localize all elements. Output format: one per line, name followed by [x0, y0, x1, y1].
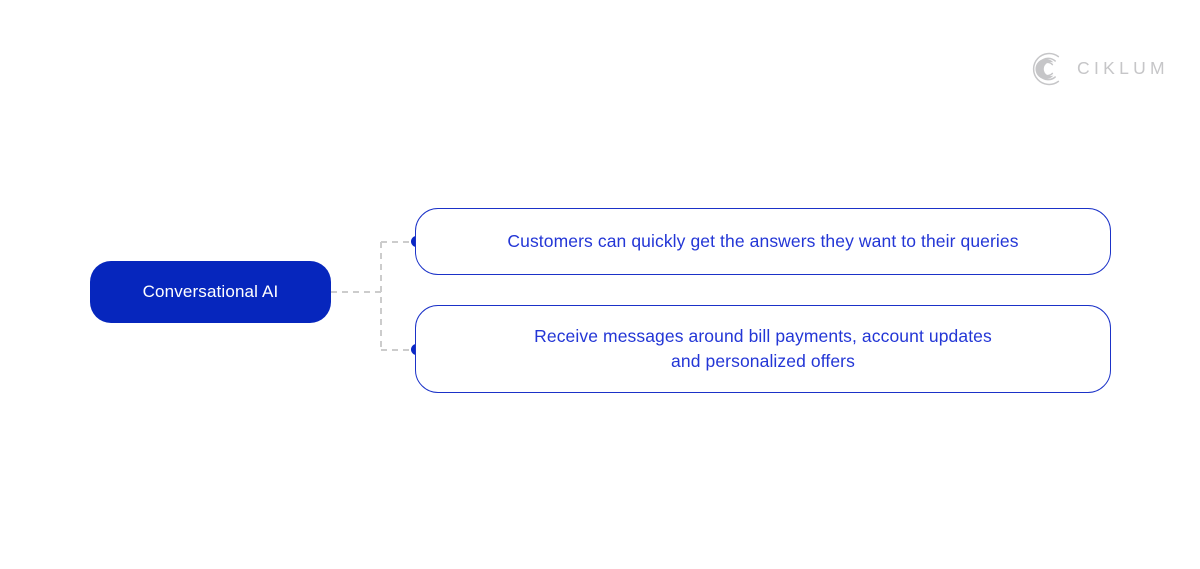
branch-card-1-line-1: Customers can quickly get the answers th…	[507, 231, 1018, 251]
ciklum-wordmark: CIKLUM	[1077, 60, 1169, 79]
branch-card-1[interactable]: Customers can quickly get the answers th…	[415, 208, 1111, 275]
branch-card-1-text: Customers can quickly get the answers th…	[507, 229, 1018, 254]
slide-canvas: CIKLUM Conversational AI Customers can q…	[0, 0, 1200, 569]
branch-card-2-line-1: Receive messages around bill payments, a…	[534, 326, 992, 346]
branch-card-2[interactable]: Receive messages around bill payments, a…	[415, 305, 1111, 393]
root-node-conversational-ai[interactable]: Conversational AI	[90, 261, 331, 323]
ciklum-c-mark-icon	[1028, 50, 1066, 88]
branch-card-2-text: Receive messages around bill payments, a…	[534, 324, 992, 374]
root-node-label: Conversational AI	[143, 282, 279, 302]
branch-card-2-line-2: and personalized offers	[671, 351, 855, 371]
ciklum-logo: CIKLUM	[1028, 46, 1156, 92]
